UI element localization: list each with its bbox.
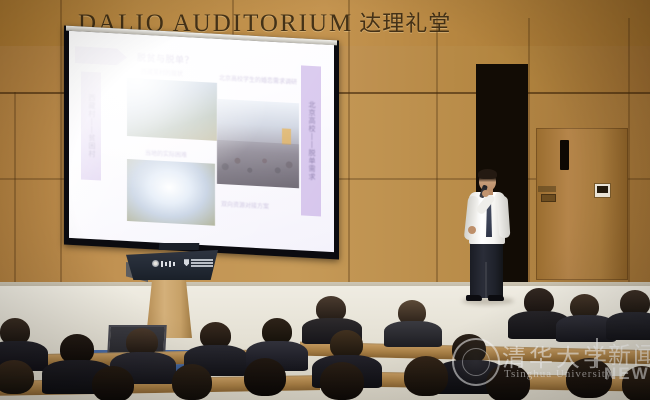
slide-photo-night-landscape bbox=[127, 159, 215, 226]
slide-right-band: 北京高校——脱单需求 bbox=[301, 65, 321, 216]
screen-surface: 脱贫与脱单？ 西藏某村的现状 北京高校学生的婚恋需求调研 当地的实际困难 双向资… bbox=[69, 31, 334, 252]
speaker-hair bbox=[478, 169, 497, 179]
podium-top-lip bbox=[159, 243, 200, 250]
slide-bullet-1: 西藏某村的现状 bbox=[141, 67, 183, 78]
audience-shoulders bbox=[606, 312, 650, 340]
wall-control-panel[interactable] bbox=[594, 183, 611, 198]
slide-bullet-3: 北京高校学生的婚恋需求调研 bbox=[219, 75, 299, 88]
light-switch[interactable] bbox=[541, 194, 556, 202]
wall-seam bbox=[628, 18, 630, 286]
auditorium-photo: DALIO AUDITORIUM达理礼堂 脱贫与脱单？ 西藏某村的现状 北京高校… bbox=[0, 0, 650, 400]
audience-shoulders bbox=[384, 321, 442, 347]
door-window-slot bbox=[560, 140, 569, 170]
tsinghua-seal-icon bbox=[152, 260, 175, 267]
speaker-shoe-left bbox=[466, 295, 482, 301]
speaker-leg-separation bbox=[485, 262, 487, 298]
audience-head bbox=[622, 366, 650, 400]
audience-head bbox=[486, 364, 530, 400]
slide-photo-crowd-event bbox=[217, 99, 299, 188]
speaker-hand-lower bbox=[468, 226, 476, 234]
slide-bullet-2: 当地的实际困难 bbox=[145, 148, 187, 159]
audience-head bbox=[172, 364, 212, 400]
partner-shield-icon bbox=[184, 259, 213, 267]
projection-screen: 脱贫与脱单？ 西藏某村的现状 北京高校学生的婚恋需求调研 当地的实际困难 双向资… bbox=[64, 26, 339, 260]
slide-chevron-shape bbox=[75, 46, 127, 66]
crowd-silhouettes bbox=[217, 140, 299, 189]
side-door[interactable] bbox=[536, 128, 628, 280]
audience-head bbox=[404, 356, 448, 396]
slide-right-band-label: 北京高校——脱单需求 bbox=[306, 101, 316, 182]
wall-seam bbox=[436, 18, 438, 286]
wall-seam bbox=[528, 18, 530, 286]
audience-head bbox=[0, 360, 34, 394]
audience-head bbox=[244, 358, 286, 396]
speaker-hand-holding-mic bbox=[482, 190, 489, 197]
slide-left-band-label: 西藏村——贫困村 bbox=[86, 94, 96, 159]
slide-title: 脱贫与脱单？ bbox=[137, 51, 194, 67]
slide-left-band: 西藏村——贫困村 bbox=[81, 71, 101, 180]
wall-seam bbox=[60, 0, 62, 286]
crowd-flag bbox=[282, 128, 291, 144]
slide-photo-mountain-village bbox=[127, 78, 217, 141]
presentation-slide: 脱贫与脱单？ 西藏某村的现状 北京高校学生的婚恋需求调研 当地的实际困难 双向资… bbox=[69, 31, 334, 252]
slide-bullet-4: 双向资源对接方案 bbox=[221, 199, 269, 211]
wall-seam bbox=[14, 92, 16, 286]
audience-head bbox=[566, 358, 612, 398]
audience-head bbox=[320, 362, 364, 400]
exit-sign-plate bbox=[538, 186, 556, 192]
wall-seam bbox=[348, 0, 350, 286]
audience-head bbox=[92, 366, 134, 400]
speaker-shoe-right bbox=[488, 295, 504, 301]
